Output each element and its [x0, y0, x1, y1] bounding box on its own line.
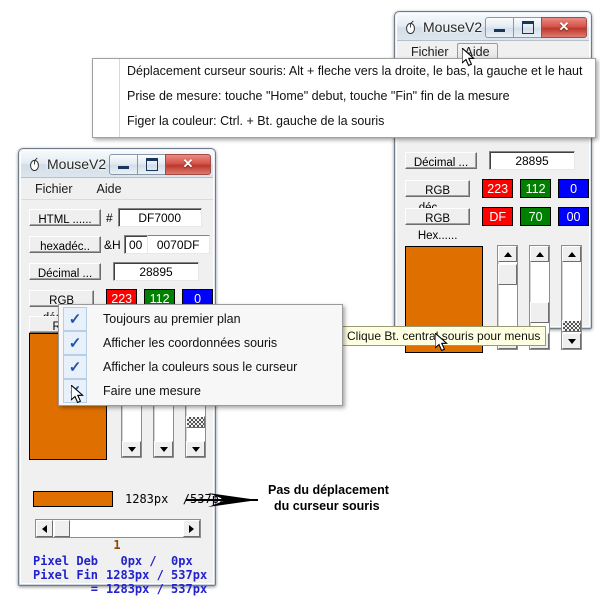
step-scroll-left[interactable] — [36, 520, 53, 537]
decimal-value-field[interactable]: 28895 — [113, 262, 199, 281]
scroll-thumb-green-back[interactable] — [530, 302, 549, 323]
pixel-row-total: = 1283px / 537px — [33, 582, 207, 596]
window-title-front: MouseV2 — [47, 156, 106, 172]
step-scroll-thumb[interactable] — [54, 520, 70, 537]
hex-prefix-label: &H — [104, 238, 121, 252]
maximize-button-front[interactable] — [137, 154, 166, 175]
scroll-down-green-front[interactable] — [154, 441, 173, 457]
rgb-dec-green-back: 112 — [520, 179, 551, 198]
context-menu-label-3: Faire une mesure — [103, 384, 201, 398]
status-tooltip: Clique Bt. central souris pour menus — [341, 326, 546, 346]
html-value-field[interactable]: DF7000 — [118, 208, 202, 227]
scroll-up-green-back[interactable] — [530, 246, 549, 262]
context-menu[interactable]: ✓ Toujours au premier plan ✓ Afficher le… — [58, 304, 343, 406]
scroll-thumb-red-back[interactable] — [498, 264, 517, 285]
hex-high-field[interactable]: 00 — [124, 235, 148, 254]
context-menu-item-faire-une-mesure[interactable]: ✓ Faire une mesure — [59, 379, 342, 403]
check-icon: ✓ — [63, 379, 87, 403]
close-button-back[interactable]: ✕ — [541, 17, 587, 38]
rgb-dec-blue-back: 0 — [558, 179, 589, 198]
minimize-button-back[interactable] — [485, 17, 514, 38]
rgb-dec-row-back: RGB déc...... 223 112 0 — [405, 179, 589, 198]
annotation-arrow — [186, 488, 274, 516]
rgb-hex-green-back: 70 — [520, 207, 551, 226]
hex-value-field[interactable]: 0070DF — [148, 235, 210, 254]
pixel-deb-label: Pixel Deb — [33, 554, 98, 568]
menu-aide-front[interactable]: Aide — [89, 180, 130, 198]
context-menu-label-2: Afficher la couleurs sous le curseur — [103, 360, 297, 374]
annotation-text: Pas du déplacement du curseur souris — [268, 482, 389, 514]
scroll-up-red-back[interactable] — [498, 246, 517, 262]
rgb-hex-blue-back: 00 — [558, 207, 589, 226]
scroll-up-blue-back[interactable] — [562, 246, 581, 262]
rgb-hex-red-back: DF — [482, 207, 513, 226]
minimize-button-front[interactable] — [109, 154, 138, 175]
mouse-icon — [27, 157, 42, 172]
decimal-value-back[interactable]: 28895 — [489, 151, 575, 170]
html-row: HTML ...... # DF7000 — [29, 208, 213, 227]
mouse-icon — [403, 20, 418, 35]
step-scrollbar[interactable] — [35, 519, 201, 538]
rgb-hex-row-back: RGB Hex...... DF 70 00 — [405, 207, 589, 226]
scroll-thumb-blue-back[interactable] — [562, 320, 581, 332]
titlebar-back[interactable]: MouseV2 ✕ — [397, 14, 589, 40]
check-icon: ✓ — [63, 355, 87, 379]
check-icon: ✓ — [63, 307, 87, 331]
annotation-line-2: du curseur souris — [274, 498, 389, 514]
decimal-row: Décimal ... 28895 — [29, 262, 213, 281]
help-line-2[interactable]: Prise de mesure: touche "Home" debut, to… — [127, 84, 595, 109]
pixel-fin-value: 1283px / 537px — [106, 568, 207, 582]
menu-fichier-front[interactable]: Fichier — [27, 180, 81, 198]
decimal-button[interactable]: Décimal ... — [29, 263, 101, 280]
help-line-3[interactable]: Figer la couleur: Ctrl. + Bt. gauche de … — [127, 109, 595, 134]
pixel-fin-label: Pixel Fin — [33, 568, 98, 582]
help-dropdown-menu[interactable]: Déplacement curseur souris: Alt + fleche… — [92, 58, 596, 138]
scroll-down-blue-front[interactable] — [186, 441, 205, 457]
step-scroll-track[interactable] — [53, 520, 183, 537]
menubar-front[interactable]: Fichier Aide — [21, 178, 213, 200]
context-menu-label-1: Afficher les coordonnées souris — [103, 336, 277, 350]
pixel-deb-value: 0px / 0px — [106, 554, 193, 568]
menu-gutter — [93, 59, 120, 137]
pixel-total-value: 1283px / 537px — [106, 582, 207, 596]
close-button-front[interactable]: ✕ — [165, 154, 211, 175]
pixel-readout: Pixel Deb 0px / 0px Pixel Fin 1283px / 5… — [33, 554, 207, 596]
hex-row: hexadéc.. &H 00 0070DF — [29, 235, 213, 254]
rgb-dec-red-back: 223 — [482, 179, 513, 198]
help-line-1[interactable]: Déplacement curseur souris: Alt + fleche… — [127, 59, 595, 84]
context-menu-item-toujours-premier-plan[interactable]: ✓ Toujours au premier plan — [59, 307, 342, 331]
decimal-button-back[interactable]: Décimal ... — [405, 152, 477, 169]
pixel-total-label: = — [33, 582, 98, 596]
scroll-thumb-blue-front[interactable] — [186, 416, 205, 428]
html-prefix-label: # — [106, 211, 113, 225]
rgb-hex-button-back[interactable]: RGB Hex...... — [405, 208, 470, 225]
scroll-down-blue-back[interactable] — [562, 333, 581, 349]
check-icon: ✓ — [63, 331, 87, 355]
html-button[interactable]: HTML ...... — [29, 209, 101, 226]
pixel-row-deb: Pixel Deb 0px / 0px — [33, 554, 207, 568]
scrollbar-blue-back[interactable] — [561, 245, 582, 350]
pixel-row-fin: Pixel Fin 1283px / 537px — [33, 568, 207, 582]
window-title-back: MouseV2 — [423, 19, 482, 35]
rgb-dec-button-back[interactable]: RGB déc...... — [405, 180, 470, 197]
titlebar-front[interactable]: MouseV2 ✕ — [21, 151, 213, 177]
annotation-line-1: Pas du déplacement — [268, 483, 389, 497]
hexadec-button[interactable]: hexadéc.. — [29, 236, 101, 253]
scroll-down-red-front[interactable] — [122, 441, 141, 457]
step-value-label: 1 — [21, 538, 213, 552]
context-menu-label-0: Toujours au premier plan — [103, 312, 241, 326]
maximize-button-back[interactable] — [513, 17, 542, 38]
context-menu-item-afficher-coordonnees[interactable]: ✓ Afficher les coordonnées souris — [59, 331, 342, 355]
decimal-row-back: Décimal ... 28895 — [405, 151, 589, 170]
context-menu-item-afficher-couleurs[interactable]: ✓ Afficher la couleurs sous le curseur — [59, 355, 342, 379]
measure-color-swatch — [33, 491, 113, 507]
step-scroll-right[interactable] — [183, 520, 200, 537]
